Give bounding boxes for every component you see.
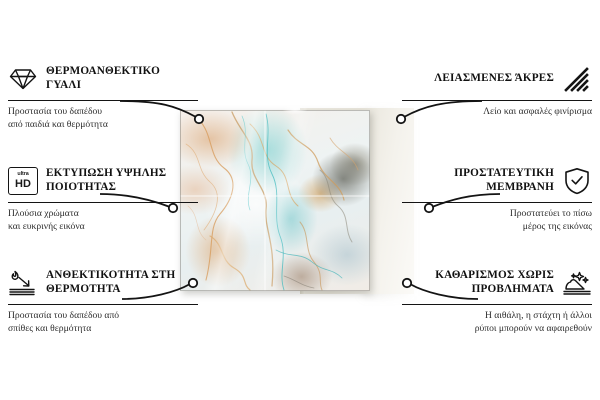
feature-header: ΑΝΘΕΚΤΙΚΟΤΗΤΑ ΣΤΗ ΘΕΡΜΟΤΗΤΑ	[8, 266, 198, 300]
feature-easy-cleaning: ΚΑΘΑΡΙΣΜΟΣ ΧΩΡΙΣ ΠΡΟΒΛΗΜΑΤΑ Η αιθάλη, η …	[402, 266, 592, 336]
feature-polished-edges: ΛΕΙΑΣΜΕΝΕΣ ΆΚΡΕΣ Λείο και ασφαλές φινίρι…	[402, 62, 592, 119]
feature-description: Προστασία του δαπέδου από σπίθες και θερ…	[8, 310, 198, 336]
feature-title: ΘΕΡΜΟΑΝΘΕΚΤΙΚΟ ΓΥΑΛΙ	[46, 65, 198, 92]
feature-protective-membrane: ΠΡΟΣΤΑΤΕΥΤΙΚΗ ΜΕΜΒΡΑΝΗ Προστατεύει το πί…	[402, 164, 592, 234]
feature-header: ΠΡΟΣΤΑΤΕΥΤΙΚΗ ΜΕΜΒΡΑΝΗ	[402, 164, 592, 198]
feature-title: ΕΚΤΥΠΩΣΗ ΥΨΗΛΗΣ ΠΟΙΟΤΗΤΑΣ	[46, 167, 198, 194]
feature-heat-resistant-glass: ΘΕΡΜΟΑΝΘΕΚΤΙΚΟ ΓΥΑΛΙ Προστασία του δαπέδ…	[8, 62, 198, 132]
feature-title: ΛΕΙΑΣΜΕΝΕΣ ΆΚΡΕΣ	[434, 72, 554, 86]
feature-title: ΚΑΘΑΡΙΣΜΟΣ ΧΩΡΙΣ ΠΡΟΒΛΗΜΑΤΑ	[402, 269, 554, 296]
feature-header: ΘΕΡΜΟΑΝΘΕΚΤΙΚΟ ΓΥΑΛΙ	[8, 62, 198, 96]
feature-title: ΑΝΘΕΚΤΙΚΟΤΗΤΑ ΣΤΗ ΘΕΡΜΟΤΗΤΑ	[46, 269, 198, 296]
feature-description: Λείο και ασφαλές φινίρισμα	[402, 106, 592, 119]
feature-divider	[8, 100, 198, 101]
polished-edges-icon	[562, 64, 592, 94]
easy-cleaning-icon	[562, 268, 592, 298]
ultra-hd-small-label: ultra	[17, 172, 28, 177]
feature-header: ΚΑΘΑΡΙΣΜΟΣ ΧΩΡΙΣ ΠΡΟΒΛΗΜΑΤΑ	[402, 266, 592, 300]
feature-description: Προστατεύει το πίσω μέρος της εικόνας	[402, 208, 592, 234]
feature-divider	[402, 202, 592, 203]
feature-divider	[8, 202, 198, 203]
feature-description: Η αιθάλη, η στάχτη ή άλλοι ρύποι μπορούν…	[402, 310, 592, 336]
ultra-hd-badge-icon: ultra HD	[8, 166, 38, 196]
feature-high-quality-print: ultra HD ΕΚΤΥΠΩΣΗ ΥΨΗΛΗΣ ΠΟΙΟΤΗΤΑΣ Πλούσ…	[8, 164, 198, 234]
heat-resistance-icon	[8, 268, 38, 298]
feature-divider	[402, 100, 592, 101]
feature-description: Προστασία του δαπέδου από παιδιά και θερ…	[8, 106, 198, 132]
infographic-stage: ΘΕΡΜΟΑΝΘΕΚΤΙΚΟ ΓΥΑΛΙ Προστασία του δαπέδ…	[0, 0, 600, 400]
feature-divider	[402, 304, 592, 305]
feature-description: Πλούσια χρώματα και ευκρινής εικόνα	[8, 208, 198, 234]
feature-header: ultra HD ΕΚΤΥΠΩΣΗ ΥΨΗΛΗΣ ΠΟΙΟΤΗΤΑΣ	[8, 164, 198, 198]
ultra-hd-large-label: HD	[15, 179, 31, 190]
feature-divider	[8, 304, 198, 305]
diamond-icon	[8, 64, 38, 94]
feature-header: ΛΕΙΑΣΜΕΝΕΣ ΆΚΡΕΣ	[402, 62, 592, 96]
shield-check-icon	[562, 166, 592, 196]
feature-title: ΠΡΟΣΤΑΤΕΥΤΙΚΗ ΜΕΜΒΡΑΝΗ	[402, 167, 554, 194]
feature-heat-durability: ΑΝΘΕΚΤΙΚΟΤΗΤΑ ΣΤΗ ΘΕΡΜΟΤΗΤΑ Προστασία το…	[8, 266, 198, 336]
